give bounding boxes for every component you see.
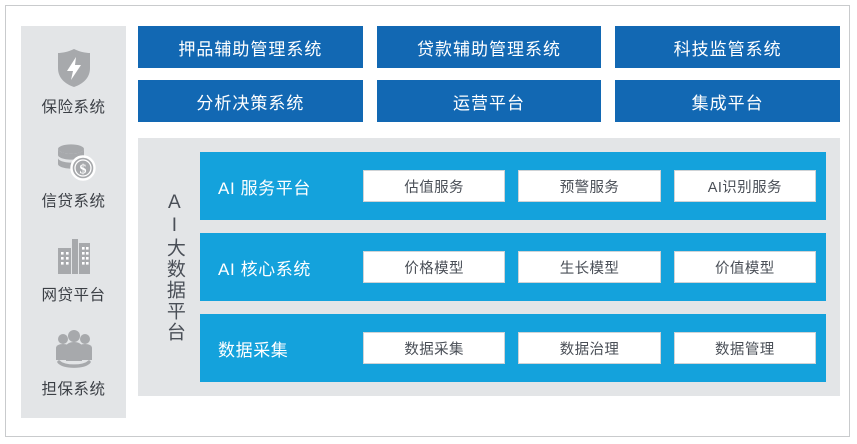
sidebar-item-guarantee[interactable]: 担保系统 — [21, 328, 126, 399]
people-group-icon — [50, 328, 98, 372]
banner-card-tech-supervision[interactable]: 科技监管系统 — [615, 26, 840, 68]
banner-card-integration-platform[interactable]: 集成平台 — [615, 80, 840, 122]
sidebar-item-insurance[interactable]: 保险系统 — [21, 46, 126, 117]
banner-card-operations-platform[interactable]: 运营平台 — [377, 80, 602, 122]
platform-card-data-governance[interactable]: 数据治理 — [518, 332, 660, 364]
svg-text:$: $ — [79, 162, 86, 177]
platform-row-ai-core: AI 核心系统 价格模型 生长模型 价值模型 — [200, 233, 826, 301]
platform-row-data-collection: 数据采集 数据采集 数据治理 数据管理 — [200, 314, 826, 382]
architecture-diagram-frame: 保险系统 $ 信贷系统 — [5, 5, 850, 437]
sidebar-item-credit[interactable]: $ 信贷系统 — [21, 140, 126, 211]
banner-row-second: 分析决策系统 运营平台 集成平台 — [138, 80, 840, 122]
platform-card-data-management[interactable]: 数据管理 — [674, 332, 816, 364]
platform-row-title: AI 服务平台 — [218, 174, 363, 199]
sidebar-item-label: 担保系统 — [41, 377, 105, 399]
banner-card-collateral-mgmt[interactable]: 押品辅助管理系统 — [138, 26, 363, 68]
platform-card-valuation-service[interactable]: 估值服务 — [363, 170, 505, 202]
coins-dollar-icon: $ — [50, 140, 98, 184]
platform-card-ai-recognition-service[interactable]: AI识别服务 — [674, 170, 816, 202]
platform-card-alert-service[interactable]: 预警服务 — [518, 170, 660, 202]
platform-row-title: AI 核心系统 — [218, 255, 363, 280]
platform-rows: AI 服务平台 估值服务 预警服务 AI识别服务 AI 核心系统 价格模型 生长… — [200, 152, 826, 382]
banner-row-top: 押品辅助管理系统 贷款辅助管理系统 科技监管系统 — [138, 26, 840, 68]
sidebar-item-online-lending[interactable]: 网贷平台 — [21, 234, 126, 305]
banner-card-loan-mgmt[interactable]: 贷款辅助管理系统 — [377, 26, 602, 68]
banner-card-analysis-decision[interactable]: 分析决策系统 — [138, 80, 363, 122]
sidebar-item-label: 保险系统 — [41, 95, 105, 117]
platform-card-growth-model[interactable]: 生长模型 — [518, 251, 660, 283]
platform-row-ai-service: AI 服务平台 估值服务 预警服务 AI识别服务 — [200, 152, 826, 220]
sidebar: 保险系统 $ 信贷系统 — [21, 26, 126, 418]
platform-card-price-model[interactable]: 价格模型 — [363, 251, 505, 283]
platform-row-cards: 价格模型 生长模型 价值模型 — [363, 251, 816, 283]
platform-row-title: 数据采集 — [218, 336, 363, 361]
platform-vertical-title: AI大数据平台 — [148, 152, 200, 382]
sidebar-item-label: 网贷平台 — [41, 283, 105, 305]
platform-row-cards: 估值服务 预警服务 AI识别服务 — [363, 170, 816, 202]
platform-row-cards: 数据采集 数据治理 数据管理 — [363, 332, 816, 364]
buildings-icon — [50, 234, 98, 278]
shield-bolt-icon — [50, 46, 98, 90]
ai-bigdata-platform-panel: AI大数据平台 AI 服务平台 估值服务 预警服务 AI识别服务 AI 核心系统… — [138, 138, 840, 396]
platform-card-value-model[interactable]: 价值模型 — [674, 251, 816, 283]
platform-card-data-collection[interactable]: 数据采集 — [363, 332, 505, 364]
content-column: 押品辅助管理系统 贷款辅助管理系统 科技监管系统 分析决策系统 运营平台 集成平… — [138, 26, 840, 418]
sidebar-item-label: 信贷系统 — [41, 189, 105, 211]
